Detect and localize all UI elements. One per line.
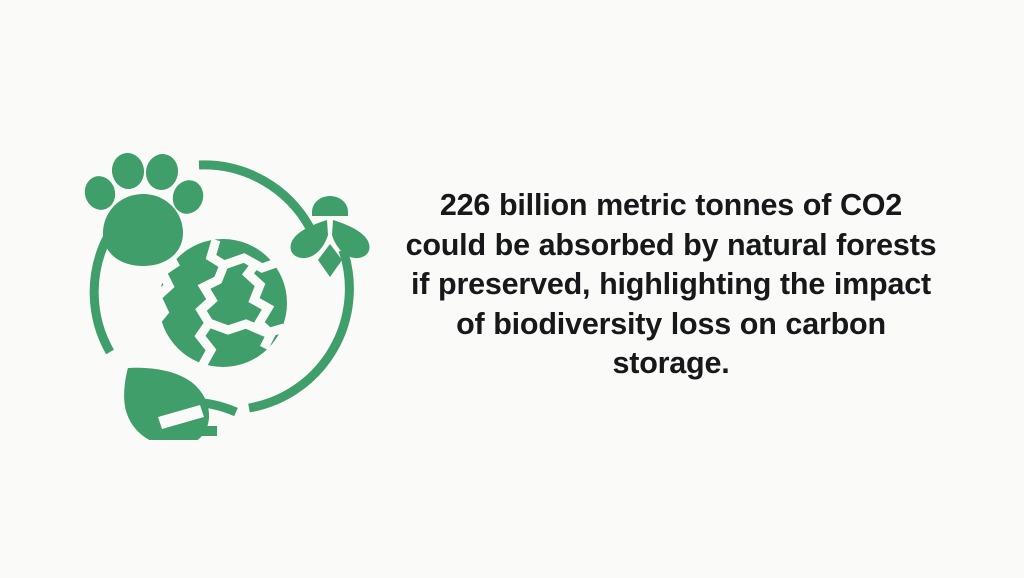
headline-text: 226 billion metric tonnes of CO2 could b…: [404, 186, 938, 384]
illustration-container: [78, 140, 378, 440]
paw-main-pad: [103, 194, 183, 266]
paw-toe-inner-left: [110, 151, 147, 191]
leaf-stem: [179, 426, 217, 436]
biodiversity-loss-illustration: [78, 140, 378, 440]
ring-arc-left: [94, 236, 110, 352]
butterfly-head: [312, 196, 348, 216]
fact-card: 226 billion metric tonnes of CO2 could b…: [0, 0, 1024, 578]
crack-branch-upper: [224, 258, 279, 268]
butterfly-abdomen: [318, 244, 342, 277]
butterfly: [291, 196, 370, 277]
paw-toe-inner-right: [143, 151, 181, 192]
ring-arc-top: [199, 165, 310, 228]
cracked-globe: [154, 239, 287, 367]
headline-container: 226 billion metric tonnes of CO2 could b…: [404, 186, 938, 392]
butterfly-wing-right: [332, 220, 369, 258]
leaf: [124, 368, 217, 440]
